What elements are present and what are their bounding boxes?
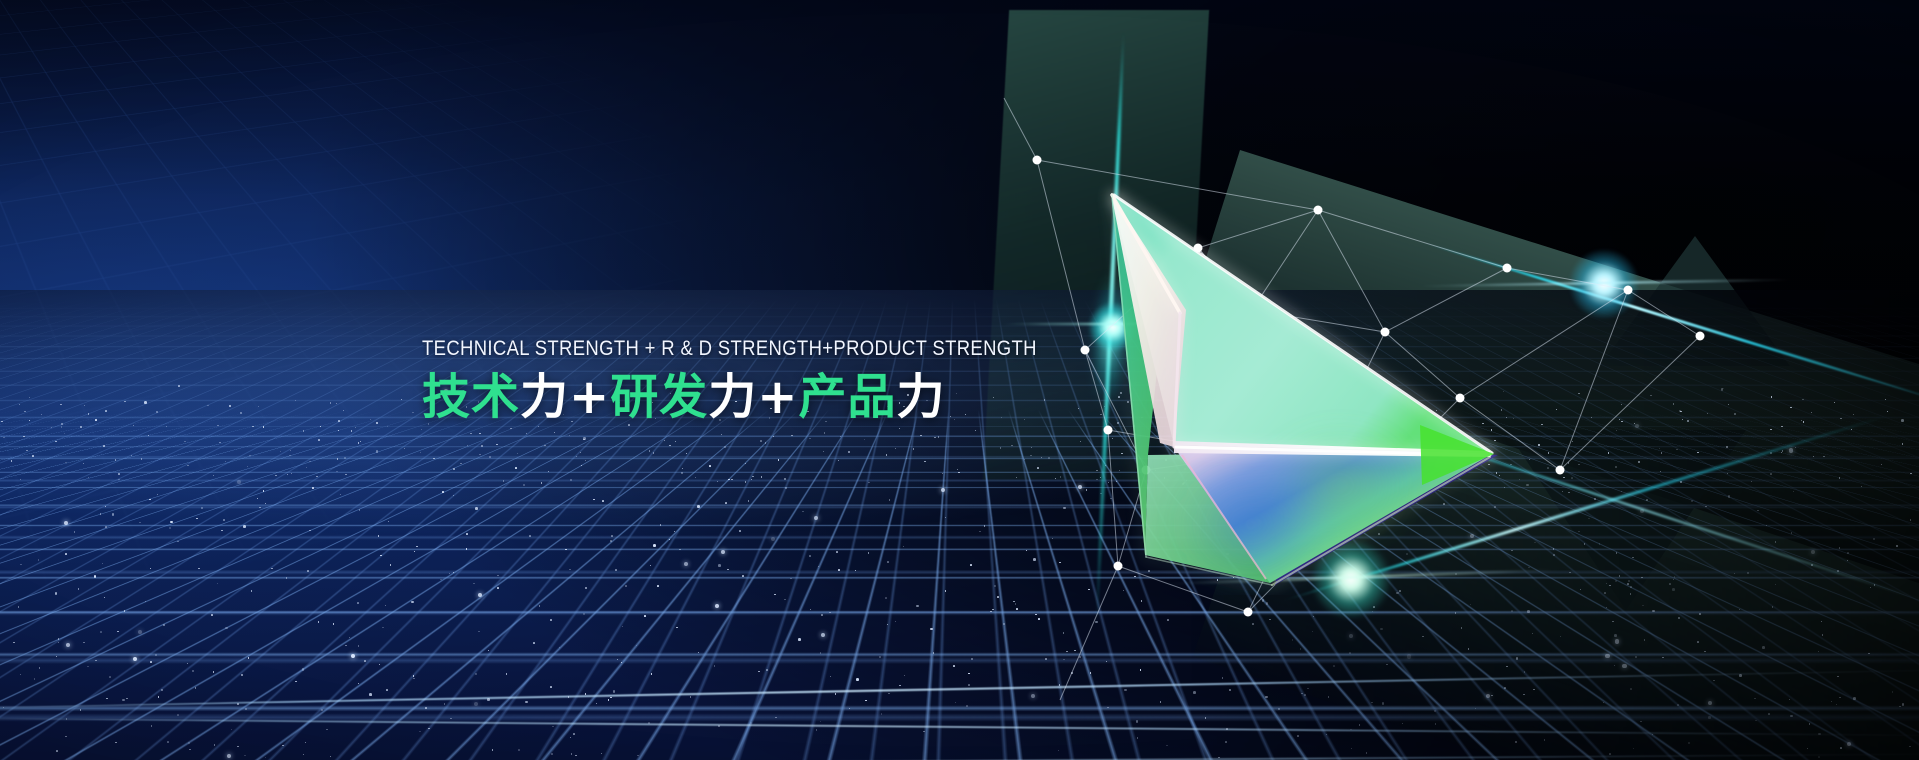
- hero-banner: TECHNICAL STRENGTH + R & D STRENGTH+PROD…: [0, 0, 1919, 760]
- title-segment: +: [757, 369, 798, 425]
- 3d-arrow-play-prism-logo: [1090, 155, 1530, 595]
- title-segment: 力: [520, 369, 569, 425]
- title-segment: 产品: [799, 369, 897, 425]
- title-segment: 研发: [610, 369, 708, 425]
- title-segment: 力: [708, 369, 757, 425]
- headline-title-chinese: 技术力+研发力+产品力: [422, 372, 1121, 422]
- title-segment: 技术: [422, 369, 520, 425]
- title-segment: 力: [897, 369, 946, 425]
- headline-block: TECHNICAL STRENGTH + R & D STRENGTH+PROD…: [422, 338, 1121, 422]
- headline-eyebrow-english: TECHNICAL STRENGTH + R & D STRENGTH+PROD…: [422, 338, 1037, 359]
- title-segment: +: [569, 369, 610, 425]
